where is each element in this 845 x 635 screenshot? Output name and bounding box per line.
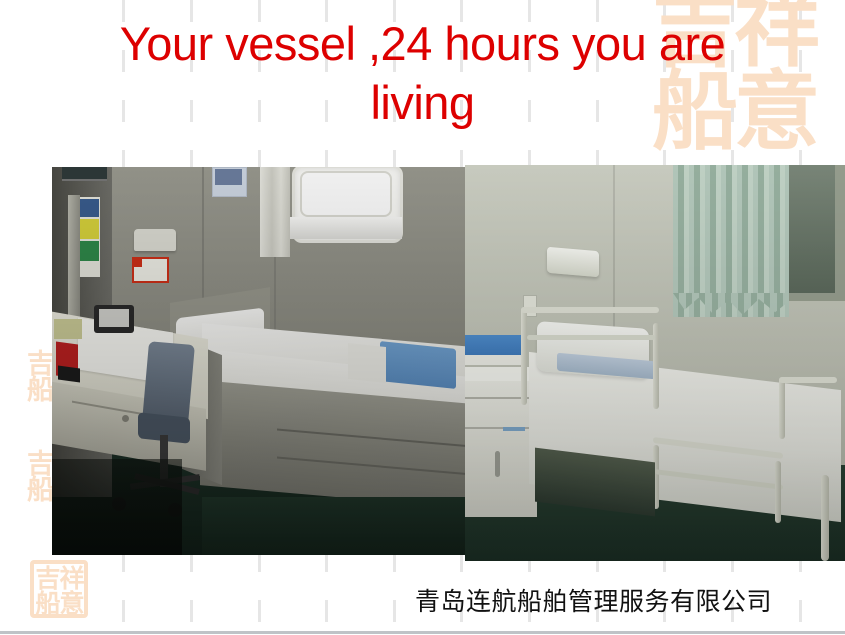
- bottom-rule: [0, 631, 845, 634]
- slide-title: Your vessel ,24 hours you are living: [60, 14, 785, 132]
- company-name-footer: 青岛连航船舶管理服务有限公司: [415, 586, 772, 618]
- seal-stamp-row-bottom: 船意: [35, 591, 84, 616]
- seal-stamp-row-top: 吉祥: [35, 566, 84, 591]
- slide-canvas: 吉祥 船意 吉祥 船意 吉祥 船意 吉祥 船意 Your vessel ,24 …: [0, 0, 845, 635]
- photo-ship-hospital-room: [465, 165, 845, 561]
- seal-stamp-watermark: 吉祥 船意: [30, 560, 88, 618]
- photo-ship-cabin-bedroom: [52, 167, 465, 555]
